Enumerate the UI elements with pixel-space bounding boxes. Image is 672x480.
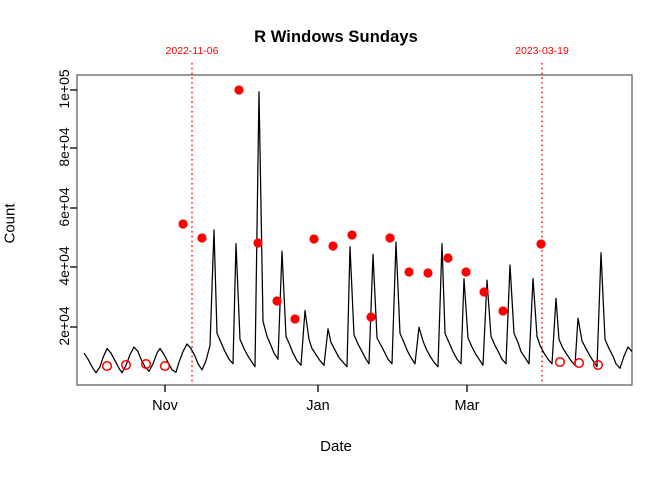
y-tick-label: 2e+04 (56, 296, 72, 356)
x-tick-label: Jan (288, 398, 348, 414)
y-tick-label: 4e+04 (56, 236, 72, 296)
y-tick-label: 1e+05 (56, 59, 72, 119)
marker-group (103, 85, 603, 370)
chart-canvas: R Windows Sundays Count Date 2e+044e+046… (0, 0, 672, 480)
y-tick-label: 6e+04 (56, 177, 72, 237)
x-tick-label: Mar (437, 398, 497, 414)
y-tick-label: 8e+04 (56, 117, 72, 177)
annotation-label: 2022-11-06 (132, 45, 252, 57)
x-tick-label: Nov (135, 398, 195, 414)
annotation-label: 2023-03-19 (482, 45, 602, 57)
data-series-group (84, 92, 632, 373)
annotation-vlines (192, 63, 542, 385)
